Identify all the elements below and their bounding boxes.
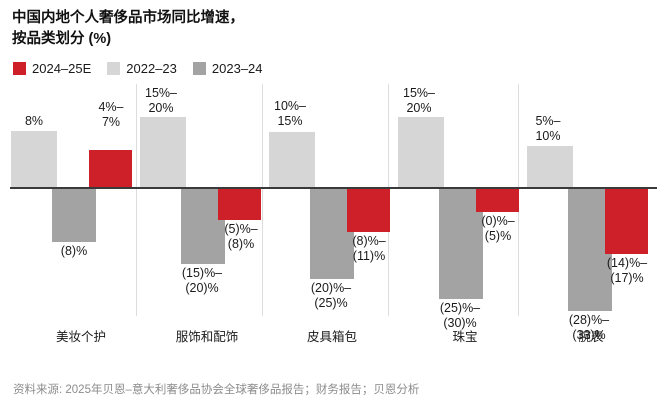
zero-baseline bbox=[10, 187, 657, 189]
bar-value-label: (0)%–(5)% bbox=[470, 214, 526, 244]
page-title-line-2-main: 按品类划分 bbox=[12, 31, 85, 47]
bar-value-label: (15)%–(20)% bbox=[173, 266, 231, 296]
group-divider-1 bbox=[262, 84, 263, 316]
bar[interactable] bbox=[398, 117, 444, 187]
bar-value-label: 15%–20% bbox=[136, 86, 186, 116]
bar[interactable] bbox=[347, 189, 390, 232]
bar-value-label: (8)%–(11)% bbox=[341, 234, 397, 264]
bar[interactable] bbox=[11, 131, 57, 187]
legend-label-2024-25E: 2024–25E bbox=[32, 62, 91, 75]
legend-item-2024-25E[interactable]: 2024–25E bbox=[13, 62, 91, 75]
legend-item-2023-24[interactable]: 2023–24 bbox=[193, 62, 263, 75]
chart-title-block: 中国内地个人奢侈品市场同比增速， 按品类划分 (%) bbox=[12, 8, 652, 50]
bar[interactable] bbox=[89, 150, 132, 187]
page-title-line-1: 中国内地个人奢侈品市场同比增速， bbox=[12, 8, 652, 29]
bar[interactable] bbox=[140, 117, 186, 187]
category-label-1: 服饰和配饰 bbox=[152, 326, 262, 345]
chart-legend: 2024–25E2022–232023–24 bbox=[13, 62, 279, 75]
bar-value-label: 5%–10% bbox=[523, 114, 573, 144]
chart-plot-area: 8%(8)%4%–7%15%–20%(15)%–(20)%(5)%–(8)%10… bbox=[0, 84, 665, 316]
bar-value-label: 8% bbox=[11, 114, 57, 129]
page-title-unit: (%) bbox=[85, 31, 112, 47]
bar-value-label: (8)% bbox=[50, 244, 98, 259]
source-note: 资料来源: 2025年贝恩–意大利奢侈品协会全球奢侈品报告；财务报告；贝恩分析 bbox=[13, 381, 419, 397]
bar[interactable] bbox=[269, 132, 315, 187]
legend-swatch-2024-25E bbox=[13, 62, 26, 75]
bar[interactable] bbox=[476, 189, 519, 212]
bar-value-label: 4%–7% bbox=[88, 100, 134, 130]
category-label-0: 美妆个护 bbox=[31, 326, 131, 345]
legend-label-2023-24: 2023–24 bbox=[212, 62, 263, 75]
legend-swatch-2022-23 bbox=[107, 62, 120, 75]
page-title-line-2: 按品类划分 (%) bbox=[12, 29, 652, 50]
bar-value-label: 15%–20% bbox=[394, 86, 444, 116]
bar-value-label: 10%–15% bbox=[265, 99, 315, 129]
legend-label-2022-23: 2022–23 bbox=[126, 62, 177, 75]
bar[interactable] bbox=[52, 189, 96, 242]
bar-value-label: (20)%–(25)% bbox=[302, 281, 360, 311]
bar-value-label: (5)%–(8)% bbox=[214, 222, 268, 252]
legend-item-2022-23[interactable]: 2022–23 bbox=[107, 62, 177, 75]
bar[interactable] bbox=[527, 146, 573, 187]
group-divider-0 bbox=[136, 84, 137, 316]
bar-value-label: (25)%–(30)% bbox=[431, 301, 489, 331]
bar-value-label: (14)%–(17)% bbox=[598, 256, 656, 286]
bar[interactable] bbox=[605, 189, 648, 254]
bar-value-label: (28)%–(33)% bbox=[560, 313, 618, 343]
bar[interactable] bbox=[218, 189, 261, 220]
legend-swatch-2023-24 bbox=[193, 62, 206, 75]
category-label-2: 皮具箱包 bbox=[282, 326, 382, 345]
